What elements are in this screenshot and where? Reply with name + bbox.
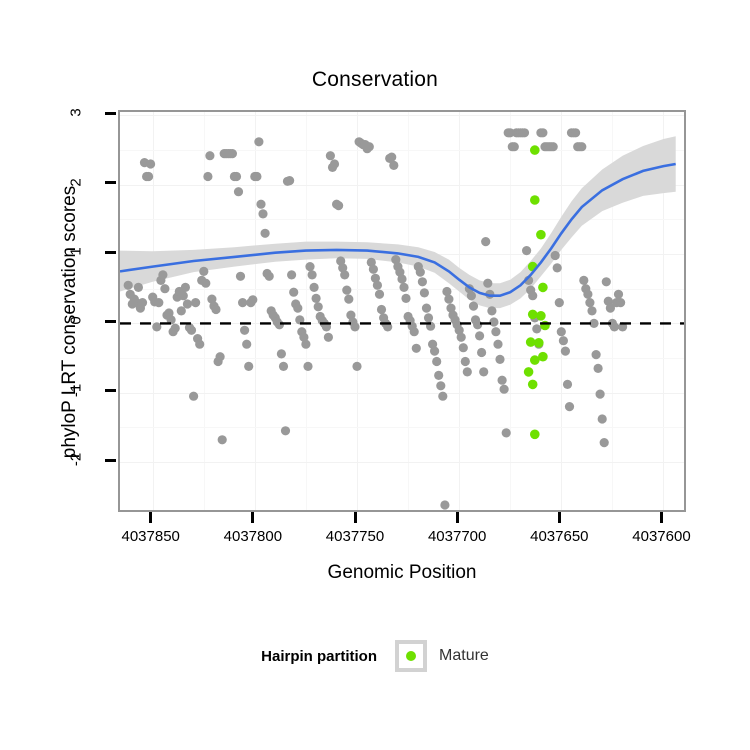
scatter-point	[401, 294, 410, 303]
scatter-point	[248, 295, 257, 304]
x-tick-mark	[660, 512, 663, 523]
scatter-point	[365, 142, 374, 151]
scatter-point	[463, 367, 472, 376]
scatter-point	[522, 246, 531, 255]
scatter-point	[254, 137, 263, 146]
scatter-point	[312, 294, 321, 303]
scatter-point	[301, 340, 310, 349]
y-tick-mark	[105, 320, 116, 323]
x-tick-label: 4037750	[300, 528, 410, 545]
scatter-point	[457, 333, 466, 342]
scatter-point	[344, 295, 353, 304]
scatter-point	[598, 414, 607, 423]
scatter-point	[232, 172, 241, 181]
scatter-point	[614, 290, 623, 299]
scatter-point	[342, 286, 351, 295]
scatter-point	[305, 262, 314, 271]
scatter-point	[553, 263, 562, 272]
scatter-point	[410, 327, 419, 336]
scatter-point	[600, 438, 609, 447]
scatter-point	[244, 362, 253, 371]
legend: Hairpin partition Mature	[0, 640, 750, 672]
y-tick-mark	[105, 181, 116, 184]
scatter-point	[592, 350, 601, 359]
scatter-point	[440, 500, 449, 509]
y-tick-label: 3	[68, 93, 85, 133]
scatter-point	[387, 153, 396, 162]
scatter-point	[549, 142, 558, 151]
scatter-point	[261, 229, 270, 238]
scatter-point	[412, 344, 421, 353]
scatter-point	[287, 270, 296, 279]
scatter-point	[258, 209, 267, 218]
scatter-point	[242, 340, 251, 349]
scatter-point	[571, 128, 580, 137]
y-tick-mark	[105, 251, 116, 254]
scatter-point	[534, 338, 544, 348]
x-tick-mark	[251, 512, 254, 523]
scatter-point	[530, 195, 540, 205]
scatter-point	[256, 200, 265, 209]
scatter-point	[389, 161, 398, 170]
scatter-point	[191, 298, 200, 307]
scatter-points-other	[124, 128, 628, 509]
scatter-point	[557, 327, 566, 336]
x-axis-title: Genomic Position	[118, 562, 686, 584]
scatter-point	[252, 172, 261, 181]
scatter-point	[146, 159, 155, 168]
plot-panel	[118, 110, 686, 512]
scatter-point	[563, 380, 572, 389]
scatter-point	[138, 298, 147, 307]
scatter-point	[134, 283, 143, 292]
scatter-point	[551, 251, 560, 260]
conservation-scatter-figure: Conservation phyloP LRT conservation sco…	[0, 0, 750, 750]
scatter-point	[424, 313, 433, 322]
scatter-point	[500, 385, 509, 394]
scatter-point	[536, 311, 546, 321]
legend-key-mature[interactable]	[395, 640, 427, 672]
scatter-point	[352, 362, 361, 371]
x-tick-label: 4037850	[96, 528, 206, 545]
legend-label-mature: Mature	[439, 647, 489, 665]
x-tick-mark	[456, 512, 459, 523]
scatter-point	[444, 295, 453, 304]
scatter-point	[538, 283, 548, 293]
scatter-point	[203, 172, 212, 181]
scatter-point	[228, 149, 237, 158]
scatter-point	[124, 281, 133, 290]
scatter-point	[473, 320, 482, 329]
scatter-point	[183, 299, 192, 308]
scatter-point	[528, 291, 537, 300]
x-tick-mark	[149, 512, 152, 523]
legend-dot-icon	[406, 651, 416, 661]
scatter-point	[602, 277, 611, 286]
scatter-point	[461, 357, 470, 366]
x-tick-label: 4037800	[198, 528, 308, 545]
x-tick-label: 4037650	[504, 528, 614, 545]
scatter-point	[177, 306, 186, 315]
scatter-point	[528, 380, 538, 390]
scatter-point	[310, 283, 319, 292]
scatter-point	[234, 187, 243, 196]
y-tick-label: 0	[68, 301, 85, 341]
scatter-point	[418, 277, 427, 286]
scatter-point	[498, 376, 507, 385]
scatter-point	[377, 305, 386, 314]
scatter-point	[275, 320, 284, 329]
scatter-point	[432, 357, 441, 366]
scatter-point	[565, 402, 574, 411]
scatter-point	[481, 237, 490, 246]
scatter-point	[616, 298, 625, 307]
scatter-point	[303, 362, 312, 371]
scatter-point	[397, 274, 406, 283]
y-tick-label: 2	[68, 162, 85, 202]
scatter-point	[536, 230, 546, 240]
scatter-point	[238, 298, 247, 307]
scatter-point	[538, 128, 547, 137]
scatter-point	[171, 324, 180, 333]
scatter-point	[430, 347, 439, 356]
scatter-point	[422, 304, 431, 313]
scatter-point	[293, 304, 302, 313]
scatter-point	[334, 201, 343, 210]
x-tick-label: 4037700	[402, 528, 512, 545]
scatter-point	[373, 281, 382, 290]
scatter-point	[350, 322, 359, 331]
x-tick-label: 4037600	[606, 528, 716, 545]
scatter-point	[561, 347, 570, 356]
y-tick-label: -2	[68, 440, 85, 480]
scatter-point	[187, 326, 196, 335]
scatter-point	[416, 268, 425, 277]
scatter-point	[610, 322, 619, 331]
scatter-point	[189, 392, 198, 401]
scatter-point	[583, 290, 592, 299]
scatter-point	[524, 367, 534, 377]
scatter-point	[520, 128, 529, 137]
scatter-point	[375, 290, 384, 299]
scatter-point	[330, 159, 339, 168]
scatter-point	[154, 298, 163, 307]
scatter-point	[277, 349, 286, 358]
scatter-point	[510, 142, 519, 151]
scatter-point	[469, 302, 478, 311]
scatter-point	[211, 305, 220, 314]
scatter-point	[530, 430, 540, 440]
scatter-point	[308, 270, 317, 279]
scatter-point	[195, 340, 204, 349]
y-tick-label: 1	[68, 232, 85, 272]
scatter-point	[577, 142, 586, 151]
x-tick-mark	[354, 512, 357, 523]
plot-data-layer	[120, 112, 686, 512]
scatter-point	[216, 352, 225, 361]
scatter-point	[201, 279, 210, 288]
scatter-point	[279, 362, 288, 371]
scatter-point	[281, 426, 290, 435]
scatter-point	[493, 340, 502, 349]
scatter-point	[579, 276, 588, 285]
scatter-point	[467, 291, 476, 300]
scatter-point	[438, 392, 447, 401]
scatter-point	[420, 288, 429, 297]
legend-title: Hairpin partition	[261, 648, 377, 665]
scatter-point	[491, 327, 500, 336]
scatter-point	[340, 270, 349, 279]
scatter-point	[530, 355, 540, 365]
page-title: Conservation	[0, 68, 750, 92]
scatter-point	[540, 321, 550, 331]
scatter-point	[179, 291, 188, 300]
scatter-point	[459, 343, 468, 352]
scatter-point	[434, 371, 443, 380]
scatter-point	[530, 145, 540, 155]
scatter-point	[477, 348, 486, 357]
scatter-point	[495, 355, 504, 364]
scatter-point	[160, 284, 169, 293]
plot-panel-wrapper: 3210-1-2 4037850403780040377504037700403…	[118, 110, 686, 512]
y-tick-mark	[105, 112, 116, 115]
scatter-point	[218, 435, 227, 444]
x-tick-mark	[558, 512, 561, 523]
scatter-point	[205, 151, 214, 160]
scatter-point	[594, 364, 603, 373]
scatter-point	[265, 272, 274, 281]
scatter-point	[532, 324, 541, 333]
scatter-point	[487, 306, 496, 315]
scatter-point	[555, 298, 564, 307]
scatter-point	[324, 333, 333, 342]
scatter-point	[559, 336, 568, 345]
y-tick-mark	[105, 389, 116, 392]
scatter-point	[528, 310, 538, 320]
scatter-point	[326, 151, 335, 160]
y-tick-label: -1	[68, 370, 85, 410]
scatter-point	[181, 283, 190, 292]
scatter-point	[289, 288, 298, 297]
scatter-point	[436, 381, 445, 390]
scatter-point	[240, 326, 249, 335]
scatter-point	[489, 317, 498, 326]
y-tick-mark	[105, 459, 116, 462]
scatter-point	[475, 331, 484, 340]
scatter-point	[158, 270, 167, 279]
scatter-point	[285, 176, 294, 185]
scatter-point	[314, 302, 323, 311]
scatter-point	[483, 279, 492, 288]
scatter-point	[399, 283, 408, 292]
scatter-point	[369, 265, 378, 274]
scatter-point	[502, 428, 511, 437]
scatter-point	[587, 306, 596, 315]
scatter-point	[479, 367, 488, 376]
scatter-point	[596, 390, 605, 399]
scatter-point	[236, 272, 245, 281]
scatter-point	[144, 172, 153, 181]
scatter-point	[585, 298, 594, 307]
scatter-point	[199, 267, 208, 276]
